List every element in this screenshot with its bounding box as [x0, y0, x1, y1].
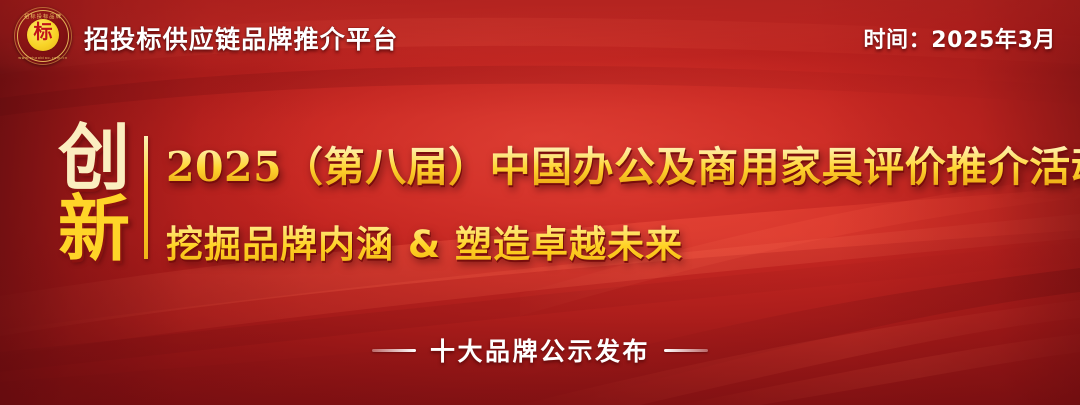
main-subtitle: 挖掘品牌内涵 & 塑造卓越未来: [166, 214, 683, 268]
keyword-char-2: 新: [52, 193, 136, 264]
site-title: 招投标供应链品牌推介平台: [84, 20, 398, 56]
footer-text: 十大品牌公示发布: [430, 332, 650, 368]
logo-glyph-text: 标: [27, 23, 59, 42]
main-headline: 2025（第八届）中国办公及商用家具评价推介活动: [166, 133, 1080, 193]
keyword-block: 创 新: [52, 122, 136, 265]
promotional-banner: 招标投标品牌 标 www.zhaobiao.com.cn 招投标供应链品牌推介平…: [0, 0, 1080, 405]
logo-arc-bottom-text: www.zhaobiao.com.cn: [14, 56, 72, 60]
seal-logo-icon: 招标投标品牌 标 www.zhaobiao.com.cn: [14, 7, 72, 65]
footer-dash-left: [372, 349, 416, 352]
footer-strip: 十大品牌公示发布: [0, 330, 1080, 370]
banner-header: 招标投标品牌 标 www.zhaobiao.com.cn 招投标供应链品牌推介平…: [0, 0, 1080, 72]
gold-divider: [144, 136, 148, 259]
logo-inner-circle: 标: [27, 19, 59, 51]
footer-dash-right: [664, 349, 708, 352]
keyword-char-1: 创: [52, 122, 136, 193]
date-label: 时间：2025年3月: [863, 22, 1056, 54]
